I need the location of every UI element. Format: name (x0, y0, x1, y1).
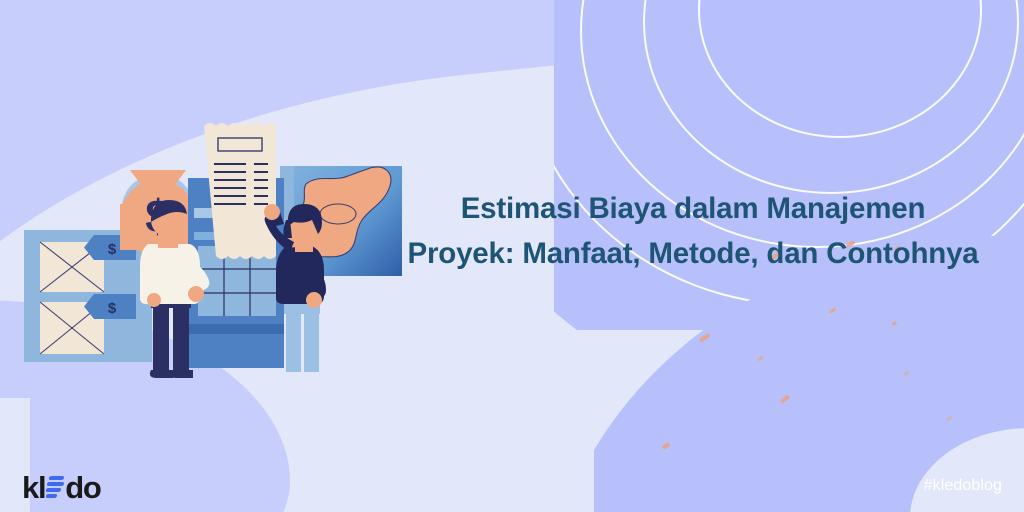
logo-text-after: do (65, 472, 100, 503)
svg-text:$: $ (108, 241, 117, 258)
page-title: Estimasi Biaya dalam Manajemen Proyek: M… (405, 186, 981, 276)
illustration-cost-estimation: $ $ $ (18, 108, 418, 388)
kledo-logo: kl do (22, 470, 101, 504)
blog-banner: $ $ $ (0, 0, 1024, 512)
svg-text:$: $ (108, 300, 117, 317)
hashtag-label: #kledoblog (924, 477, 1002, 495)
stacked-bars-icon (46, 476, 64, 498)
price-tag-lower: $ (84, 294, 136, 319)
logo-text-before: kl (22, 472, 45, 503)
receipt-document (204, 123, 276, 259)
